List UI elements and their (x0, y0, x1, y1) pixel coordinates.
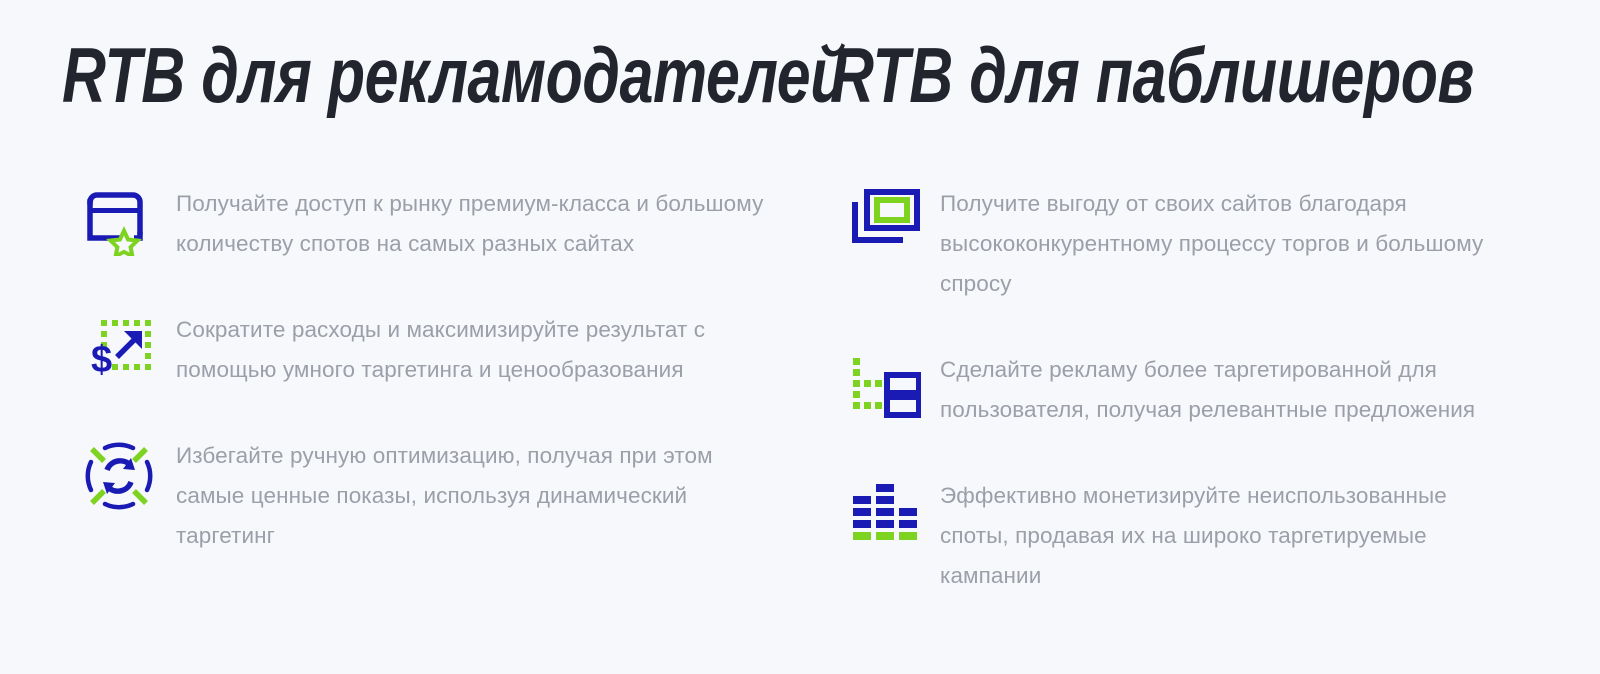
publishers-feature-list: Получите выгоду от своих сайтов благодар… (830, 184, 1600, 596)
feature-text: Эффективно монетизируйте неиспользованны… (940, 476, 1485, 596)
advertisers-title: RTB для рекламодателей (62, 30, 661, 126)
columns-container: RTB для рекламодателей Получайте д (0, 0, 1600, 674)
column-publishers: RTB для паблишеров Получите выгоду от св… (830, 0, 1600, 674)
stacked-screens-icon (830, 184, 940, 250)
targeting-tree-icon (830, 350, 940, 420)
feature-item: Эффективно монетизируйте неиспользованны… (830, 476, 1600, 596)
publishers-title: RTB для паблишеров (830, 30, 1431, 126)
feature-item: $ Сократите расходы и максимизируйте рез… (62, 310, 830, 390)
feature-text: Получайте доступ к рынку премиум-класса … (176, 184, 766, 264)
feature-item: Избегайте ручную оптимизацию, получая пр… (62, 436, 830, 556)
advertisers-feature-list: Получайте доступ к рынку премиум-класса … (62, 184, 830, 556)
column-advertisers: RTB для рекламодателей Получайте д (0, 0, 830, 674)
feature-text: Избегайте ручную оптимизацию, получая пр… (176, 436, 766, 556)
dollar-growth-arrow-icon: $ (62, 310, 176, 384)
svg-text:$: $ (91, 339, 112, 381)
equalizer-bars-icon (830, 476, 940, 542)
feature-item: Сделайте рекламу более таргетированной д… (830, 350, 1600, 430)
feature-text: Сократите расходы и максимизируйте резул… (176, 310, 766, 390)
feature-item: Получите выгоду от своих сайтов благодар… (830, 184, 1600, 304)
browser-window-star-icon (62, 184, 176, 256)
feature-item: Получайте доступ к рынку премиум-класса … (62, 184, 830, 264)
feature-text: Сделайте рекламу более таргетированной д… (940, 350, 1485, 430)
feature-text: Получите выгоду от своих сайтов благодар… (940, 184, 1485, 304)
sync-refresh-icon (62, 436, 176, 512)
rtb-benefits-section: RTB для рекламодателей Получайте д (0, 0, 1600, 674)
